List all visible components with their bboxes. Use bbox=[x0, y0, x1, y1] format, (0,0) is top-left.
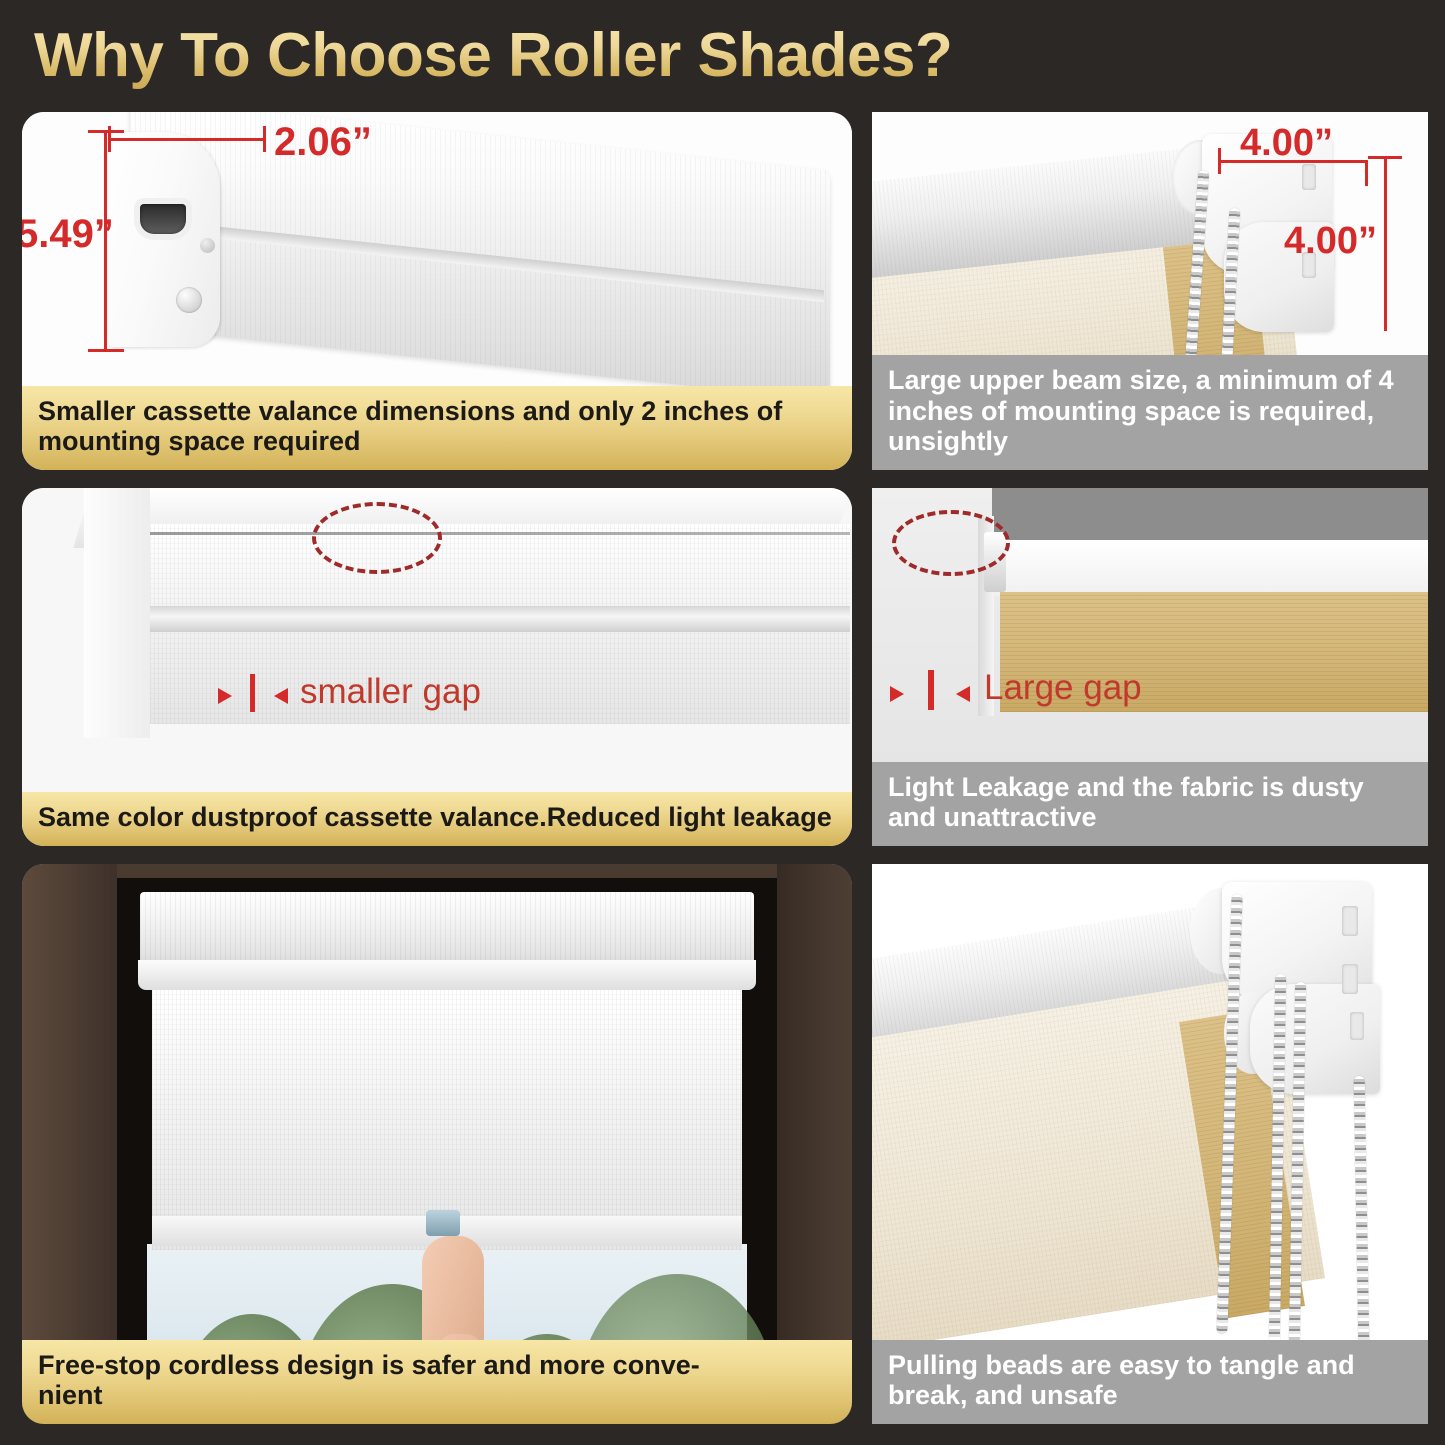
gap-marker-line bbox=[928, 670, 934, 710]
roller-tube bbox=[992, 540, 1428, 596]
beam-width-label: 4.00” bbox=[1240, 122, 1333, 165]
cassette-rail bbox=[150, 606, 850, 632]
highlight-ellipse-icon bbox=[892, 510, 1010, 576]
pull-grip bbox=[426, 1210, 460, 1236]
width-dimension-line bbox=[108, 138, 266, 141]
cassette-valance bbox=[140, 892, 754, 970]
panel-smaller-cassette: 5.49” 2.06” Smaller cassette valance dim… bbox=[22, 112, 852, 470]
panel-large-beam: 4.00” 4.00” Large upper beam size, a min… bbox=[872, 112, 1428, 470]
width-tick-right bbox=[263, 126, 266, 152]
gap-arrow-left-icon bbox=[218, 688, 232, 704]
endcap-slot bbox=[140, 204, 186, 234]
panel-4-caption: Light Leakage and the fabric is dusty an… bbox=[872, 762, 1428, 846]
gap-marker-line bbox=[250, 674, 255, 712]
height-tick-bottom bbox=[88, 349, 124, 352]
gap-arrow-right-icon bbox=[956, 686, 970, 702]
gap-arrow-right-icon bbox=[274, 688, 288, 704]
height-tick-top bbox=[88, 130, 124, 133]
bracket-hook-3 bbox=[1350, 1012, 1364, 1040]
beam-height-label: 4.00” bbox=[1284, 220, 1377, 263]
endcap-screw-lower bbox=[176, 287, 202, 313]
gap-label: Large gap bbox=[984, 668, 1142, 708]
gap-arrow-left-icon bbox=[890, 686, 904, 702]
panel-cordless-design: Free-stop cordless design is safer and m… bbox=[22, 864, 852, 1424]
page-title: Why To Choose Roller Shades? bbox=[34, 20, 1034, 92]
beam-height-dimension-line bbox=[1384, 156, 1387, 331]
panel-1-caption: Smaller cassette valance dimensions and … bbox=[22, 386, 852, 470]
width-dimension-label: 2.06” bbox=[274, 120, 372, 165]
bracket-hook-1 bbox=[1302, 164, 1316, 190]
panel-6-caption: Pulling beads are easy to tangle and bre… bbox=[872, 1340, 1428, 1424]
valance-lip bbox=[138, 960, 756, 990]
cassette-seam bbox=[150, 532, 850, 535]
infographic-board: Why To Choose Roller Shades? 5.49” 2.06”… bbox=[0, 0, 1445, 1445]
panel-3-caption: Same color dustproof cassette valance.Re… bbox=[22, 792, 852, 846]
gap-label: smaller gap bbox=[300, 672, 481, 712]
beam-width-tick-left bbox=[1218, 148, 1221, 174]
panel-pulling-beads: Pulling beads are easy to tangle and bre… bbox=[872, 864, 1428, 1424]
highlight-ellipse-icon bbox=[312, 502, 442, 574]
width-tick-left bbox=[108, 126, 111, 152]
beam-height-tick-top bbox=[1368, 156, 1402, 159]
panel-light-leakage: Large gap Light Leakage and the fabric i… bbox=[872, 488, 1428, 846]
height-dimension-label: 5.49” bbox=[22, 212, 114, 257]
panel-dustproof-valance: smaller gap Same color dustproof cassett… bbox=[22, 488, 852, 846]
panel-5-caption: Free-stop cordless design is safer and m… bbox=[22, 1340, 852, 1424]
panel-2-caption: Large upper beam size, a minimum of 4 in… bbox=[872, 355, 1428, 470]
bracket-hook-1 bbox=[1342, 906, 1358, 936]
bracket-hook-2 bbox=[1342, 964, 1358, 994]
beam-width-tick-right bbox=[1365, 160, 1368, 186]
window-frame-left bbox=[84, 488, 150, 738]
endcap-screw-upper bbox=[200, 238, 215, 253]
